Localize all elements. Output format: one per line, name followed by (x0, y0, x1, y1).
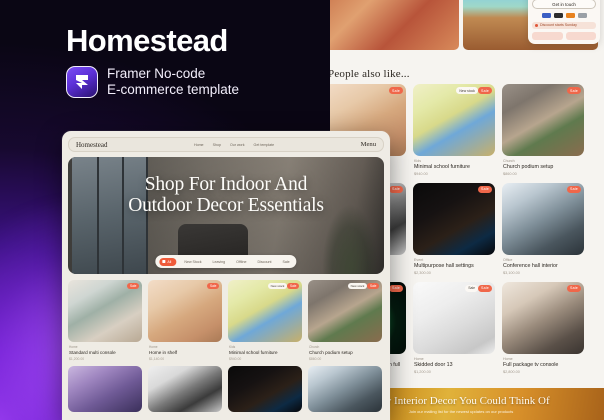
related-product-name: Minimal school furniture (414, 164, 495, 170)
hero-filter-5[interactable]: Sale (279, 258, 292, 265)
related-product-name: Multipurpose hall settings (414, 263, 495, 269)
product-badge: Sale (367, 283, 379, 289)
filter-active-icon (162, 260, 165, 263)
visa-icon (542, 13, 551, 19)
mockup-nav-link-1[interactable]: Shop (213, 143, 221, 147)
product-thumbnail[interactable] (228, 366, 302, 412)
people-also-like-heading: People also like... (328, 68, 410, 80)
discount-note: Discount starts Sunday (532, 22, 596, 29)
product-card[interactable]: New stockSaleKidsMinimal school furnitur… (228, 280, 302, 361)
related-product-price: $2,800.00 (503, 370, 584, 374)
product-category: Kids (229, 345, 302, 349)
related-product-category: Home (414, 357, 495, 361)
related-product-price: $3,100.00 (503, 271, 584, 275)
promo-title: Homestead (66, 25, 228, 56)
related-badge: Sale (478, 186, 492, 193)
note-dot-icon (535, 24, 538, 27)
related-product-category: Home (503, 357, 584, 361)
related-badge: Sale (478, 285, 492, 292)
product-thumbnail[interactable]: New stockSale (228, 280, 302, 342)
related-product-thumbnail[interactable]: SaleSale (413, 282, 495, 354)
related-product-name: Skidded door 13 (414, 362, 495, 368)
product-card[interactable]: SaleHomeHome in shelf$1,140.00 (148, 280, 222, 361)
contact-card-pills (532, 32, 596, 40)
hero-filter-label: Discount (257, 260, 271, 264)
product-badge: Sale (207, 283, 219, 289)
mockup-nav-link-3[interactable]: Get template (254, 143, 275, 147)
mastercard-icon (566, 13, 575, 19)
hero-filter-bar: AllNew StockLeavingOfflineDiscountSale (155, 255, 296, 268)
related-product-price: $940.00 (414, 172, 495, 176)
product-card[interactable]: SaleHomeStandard multi console$1,200.00 (68, 280, 142, 361)
related-product-card[interactable]: SaleChurchChurch podium setup$860.00 (502, 84, 584, 176)
related-product-card[interactable]: SaleOfficeConference hall interior$3,100… (502, 183, 584, 275)
related-product-category: Church (503, 159, 584, 163)
product-thumbnail[interactable] (308, 366, 382, 412)
product-thumbnail[interactable] (148, 366, 222, 412)
product-price: $1,200.00 (69, 357, 142, 361)
hero-filter-4[interactable]: Discount (254, 258, 274, 265)
product-thumbnail[interactable]: Sale (68, 280, 142, 342)
product-badge: Sale (287, 283, 299, 289)
product-price: $860.00 (309, 357, 382, 361)
related-product-thumbnail[interactable]: Sale (413, 183, 495, 255)
mockup-logo[interactable]: Homestead (76, 141, 108, 149)
related-product-category: Kids (414, 159, 495, 163)
hero-filter-label: New Stock (184, 260, 201, 264)
product-category: Home (69, 345, 142, 349)
product-thumbnail[interactable]: Sale (148, 280, 222, 342)
hero-title: Shop For Indoor And Outdoor Decor Essent… (68, 174, 384, 216)
top-image-toys[interactable] (324, 0, 459, 50)
product-name: Church podium setup (309, 350, 382, 355)
product-category: Home (149, 345, 222, 349)
hero-filter-label: All (167, 260, 171, 264)
related-product-thumbnail[interactable]: Sale (502, 282, 584, 354)
related-product-name: Church podium setup (503, 164, 584, 170)
related-product-card[interactable]: SaleHomeFull package tv console$2,800.00 (502, 282, 584, 380)
related-product-name: Conference hall interior (503, 263, 584, 269)
related-badge: Sale (567, 87, 581, 94)
hero-filter-1[interactable]: New Stock (181, 258, 204, 265)
hero-filter-0[interactable]: All (159, 258, 176, 266)
related-badge-secondary: New stock (456, 87, 478, 94)
mockup-navbar: Homestead HomeShopOur workGet template M… (68, 137, 384, 152)
mockup-product-grid-row2 (68, 366, 384, 412)
promo-subtitle-row: Framer No-code E-commerce template (66, 66, 239, 98)
product-name: Minimal school furniture (229, 350, 302, 355)
related-product-thumbnail[interactable]: New stockSale (413, 84, 495, 156)
hero-filter-label: Offline (236, 260, 246, 264)
related-badge-secondary: Sale (465, 285, 478, 292)
related-product-card[interactable]: SaleEventMultipurpose hall settings$2,30… (413, 183, 495, 275)
related-product-category: Event (414, 258, 495, 262)
template-browser-mockup: Homestead HomeShopOur workGet template M… (62, 131, 390, 420)
mockup-nav-links: HomeShopOur workGet template (114, 143, 355, 147)
framer-logo-icon (66, 66, 98, 98)
product-price: $940.00 (229, 357, 302, 361)
newsletter-subtitle: Join our mailing list for the newest upd… (409, 409, 514, 414)
mockup-product-grid: SaleHomeStandard multi console$1,200.00S… (68, 280, 384, 361)
mockup-menu-button[interactable]: Menu (361, 141, 376, 148)
related-badge: Sale (389, 186, 403, 193)
discount-note-text: Discount starts Sunday (540, 23, 577, 27)
contact-pill-right[interactable] (566, 32, 597, 40)
product-name: Standard multi console (69, 350, 142, 355)
product-price: $1,140.00 (149, 357, 222, 361)
product-thumbnail[interactable] (68, 366, 142, 412)
contact-pill-left[interactable] (532, 32, 563, 40)
product-name: Home in shelf (149, 350, 222, 355)
product-card[interactable]: New stockSaleChurchChurch podium setup$8… (308, 280, 382, 361)
related-badge: Sale (567, 285, 581, 292)
related-badge: Sale (567, 186, 581, 193)
product-badge-secondary: New stock (348, 283, 367, 289)
screenshot-stage: Contact / Follow Get in touch Discount s… (0, 0, 604, 420)
related-product-name: Full package tv console (503, 362, 584, 368)
mockup-hero: Shop For Indoor And Outdoor Decor Essent… (68, 157, 384, 274)
related-product-thumbnail[interactable]: Sale (502, 183, 584, 255)
related-badge: Sale (478, 87, 492, 94)
newsletter-title: Any Interior Decor You Could Think Of (372, 395, 549, 407)
payment-icons (532, 12, 596, 18)
product-thumbnail[interactable]: New stockSale (308, 280, 382, 342)
product-badge: Sale (127, 283, 139, 289)
get-in-touch-button[interactable]: Get in touch (532, 0, 596, 9)
related-product-price: $860.00 (503, 172, 584, 176)
mockup-nav-link-2[interactable]: Our work (230, 143, 245, 147)
related-product-thumbnail[interactable]: Sale (502, 84, 584, 156)
product-badge-secondary: New stock (268, 283, 287, 289)
related-product-category: Office (503, 258, 584, 262)
related-product-card[interactable]: SaleSaleHomeSkidded door 13$1,200.00 (413, 282, 495, 380)
apple-pay-icon (554, 13, 563, 19)
promo-subtitle: Framer No-code E-commerce template (107, 66, 239, 98)
google-pay-icon (578, 13, 587, 19)
related-product-price: $1,200.00 (414, 370, 495, 374)
mockup-nav-link-0[interactable]: Home (194, 143, 204, 147)
hero-filter-2[interactable]: Leaving (210, 258, 229, 265)
related-badge: Sale (389, 285, 403, 292)
hero-filter-3[interactable]: Offline (233, 258, 249, 265)
product-category: Church (309, 345, 382, 349)
hero-filter-label: Sale (282, 260, 289, 264)
related-product-card[interactable]: New stockSaleKidsMinimal school furnitur… (413, 84, 495, 176)
related-product-price: $2,300.00 (414, 271, 495, 275)
hero-filter-label: Leaving (213, 260, 226, 264)
contact-card: Contact / Follow Get in touch Discount s… (528, 0, 600, 44)
related-badge: Sale (389, 87, 403, 94)
